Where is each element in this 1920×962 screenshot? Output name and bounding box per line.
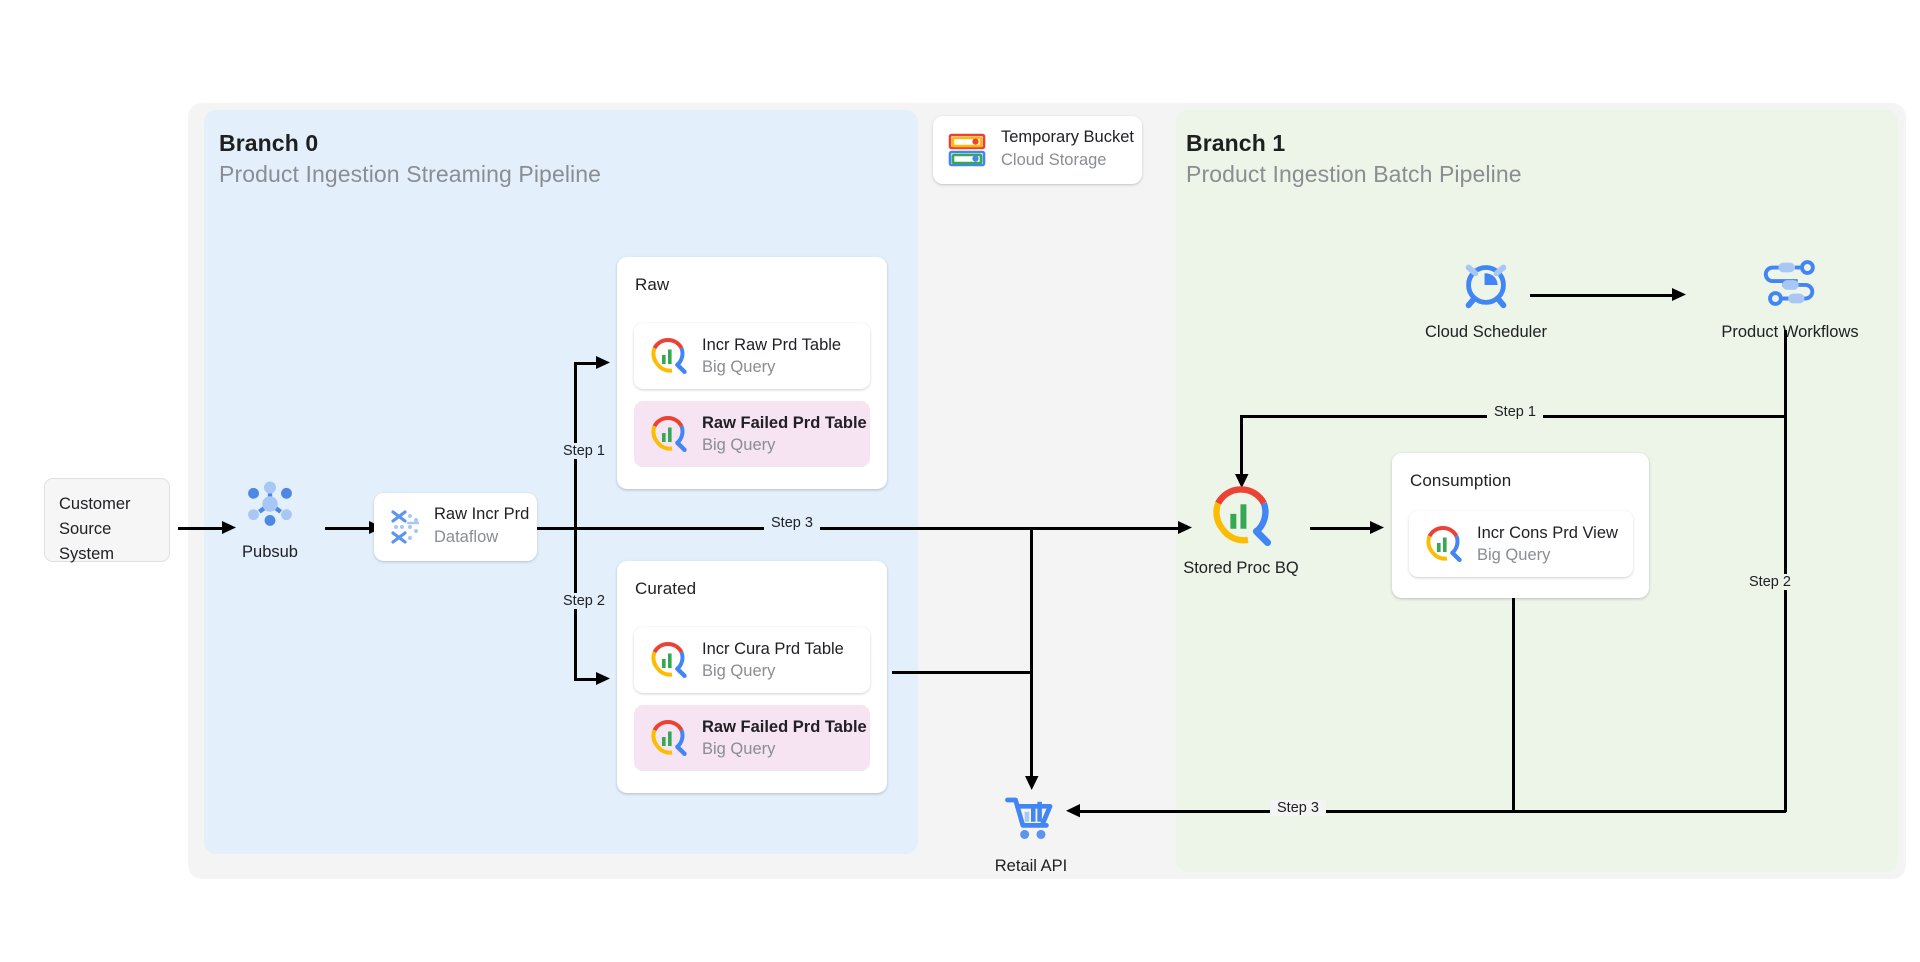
step-label-branch0-step2: Step 2 [556, 593, 612, 609]
bigquery-icon [648, 640, 688, 680]
wire-junction-vertical-up [1030, 527, 1033, 673]
cloud-scheduler-icon [1406, 252, 1566, 319]
wire-step1-drop-to-stored-proc [1240, 415, 1243, 477]
raw-group-card: Raw Incr Raw Prd Table Big Query [617, 257, 887, 489]
step-label-branch1-step1: Step 1 [1487, 404, 1543, 420]
arrowhead-to-consumption [1370, 519, 1386, 537]
pubsub-label: Pubsub [218, 543, 322, 562]
wire-trunk-to-stored-proc [1030, 527, 1180, 530]
wire-source-to-pubsub [178, 527, 222, 530]
dataflow-service: Dataflow [434, 526, 529, 549]
temporary-bucket-service: Cloud Storage [1001, 149, 1134, 172]
retail-api-icon [975, 790, 1087, 853]
wire-stored-proc-to-consumption [1310, 527, 1372, 530]
raw-group-label: Raw [635, 275, 669, 295]
retail-api-node[interactable]: Retail API [975, 768, 1087, 876]
resource-incr-raw-prd-table[interactable]: Incr Raw Prd Table Big Query [634, 323, 870, 389]
resource-title: Raw Failed Prd Table [702, 717, 867, 738]
customer-source-system-box[interactable]: Customer Source System [44, 478, 170, 562]
pubsub-icon [218, 472, 322, 539]
resource-title: Incr Cura Prd Table [702, 639, 844, 660]
step-label-branch0-step1: Step 1 [556, 443, 612, 459]
stored-proc-bq-node[interactable]: Stored Proc BQ [1182, 482, 1300, 578]
resource-service: Big Query [702, 660, 844, 682]
arrowhead-to-workflows [1672, 286, 1688, 304]
resource-title: Incr Cons Prd View [1477, 523, 1618, 544]
wire-to-curated-group [574, 678, 598, 681]
arrowhead-step3-to-retail-api [1064, 802, 1082, 820]
temporary-bucket-card[interactable]: Temporary Bucket Cloud Storage [933, 116, 1142, 184]
workflows-icon [1705, 252, 1875, 319]
retail-api-label: Retail API [975, 857, 1087, 876]
product-workflows-node[interactable]: Product Workflows [1705, 252, 1875, 342]
wire-consumption-down [1512, 598, 1515, 812]
resource-incr-cons-prd-view[interactable]: Incr Cons Prd View Big Query [1409, 511, 1633, 577]
step-label-branch1-step2: Step 2 [1742, 574, 1798, 590]
resource-service: Big Query [1477, 544, 1618, 566]
dataflow-card[interactable]: Raw Incr Prd Dataflow [374, 493, 537, 561]
wire-junction-to-retail-api [1030, 671, 1033, 779]
arrowhead-to-curated-group [596, 670, 612, 688]
wire-scheduler-to-workflows [1530, 294, 1674, 297]
pubsub-node[interactable]: Pubsub [218, 472, 322, 562]
cloud-scheduler-node[interactable]: Cloud Scheduler [1406, 252, 1566, 342]
bigquery-icon [648, 718, 688, 758]
resource-service: Big Query [702, 356, 841, 378]
cloud-storage-icon [947, 130, 987, 170]
temporary-bucket-title: Temporary Bucket [1001, 126, 1134, 149]
consumption-group-card: Consumption Incr Cons Prd View Big Query [1392, 453, 1649, 598]
cloud-scheduler-label: Cloud Scheduler [1406, 323, 1566, 342]
curated-group-label: Curated [635, 579, 696, 599]
wire-pubsub-to-dataflow [325, 527, 369, 530]
bigquery-icon [1182, 482, 1300, 555]
branch-1-title: Branch 1 [1186, 130, 1285, 157]
curated-group-card: Curated Incr Cura Prd Table Big Query [617, 561, 887, 793]
branch-1-subtitle: Product Ingestion Batch Pipeline [1186, 161, 1522, 188]
dataflow-title: Raw Incr Prd [434, 503, 529, 526]
bigquery-icon [648, 414, 688, 454]
resource-title: Incr Raw Prd Table [702, 335, 841, 356]
product-workflows-label: Product Workflows [1705, 323, 1875, 342]
wire-step2-vertical [1784, 415, 1787, 812]
wire-step3-bottom-rail [1078, 810, 1786, 813]
customer-source-system-label: Customer Source System [59, 492, 131, 567]
resource-service: Big Query [702, 738, 867, 760]
resource-title: Raw Failed Prd Table [702, 413, 867, 434]
resource-service: Big Query [702, 434, 867, 456]
wire-curated-to-junction [892, 671, 1032, 674]
architecture-diagram: Branch 0 Product Ingestion Streaming Pip… [0, 0, 1920, 962]
wire-to-raw-group [574, 362, 598, 365]
step-label-branch1-step3: Step 3 [1270, 800, 1326, 816]
wire-workflows-down-step1 [1784, 330, 1787, 417]
bigquery-icon [1423, 524, 1463, 564]
resource-incr-cura-prd-table[interactable]: Incr Cura Prd Table Big Query [634, 627, 870, 693]
stored-proc-bq-label: Stored Proc BQ [1182, 559, 1300, 578]
branch-0-title: Branch 0 [219, 130, 318, 157]
dataflow-icon [385, 507, 425, 547]
resource-raw-failed-prd-table[interactable]: Raw Failed Prd Table Big Query [634, 705, 870, 771]
bigquery-icon [648, 336, 688, 376]
arrowhead-to-raw-group [596, 354, 612, 372]
branch-0-subtitle: Product Ingestion Streaming Pipeline [219, 161, 601, 188]
step-label-branch0-step3: Step 3 [764, 515, 820, 531]
consumption-group-label: Consumption [1410, 471, 1511, 491]
resource-raw-failed-prd-table[interactable]: Raw Failed Prd Table Big Query [634, 401, 870, 467]
